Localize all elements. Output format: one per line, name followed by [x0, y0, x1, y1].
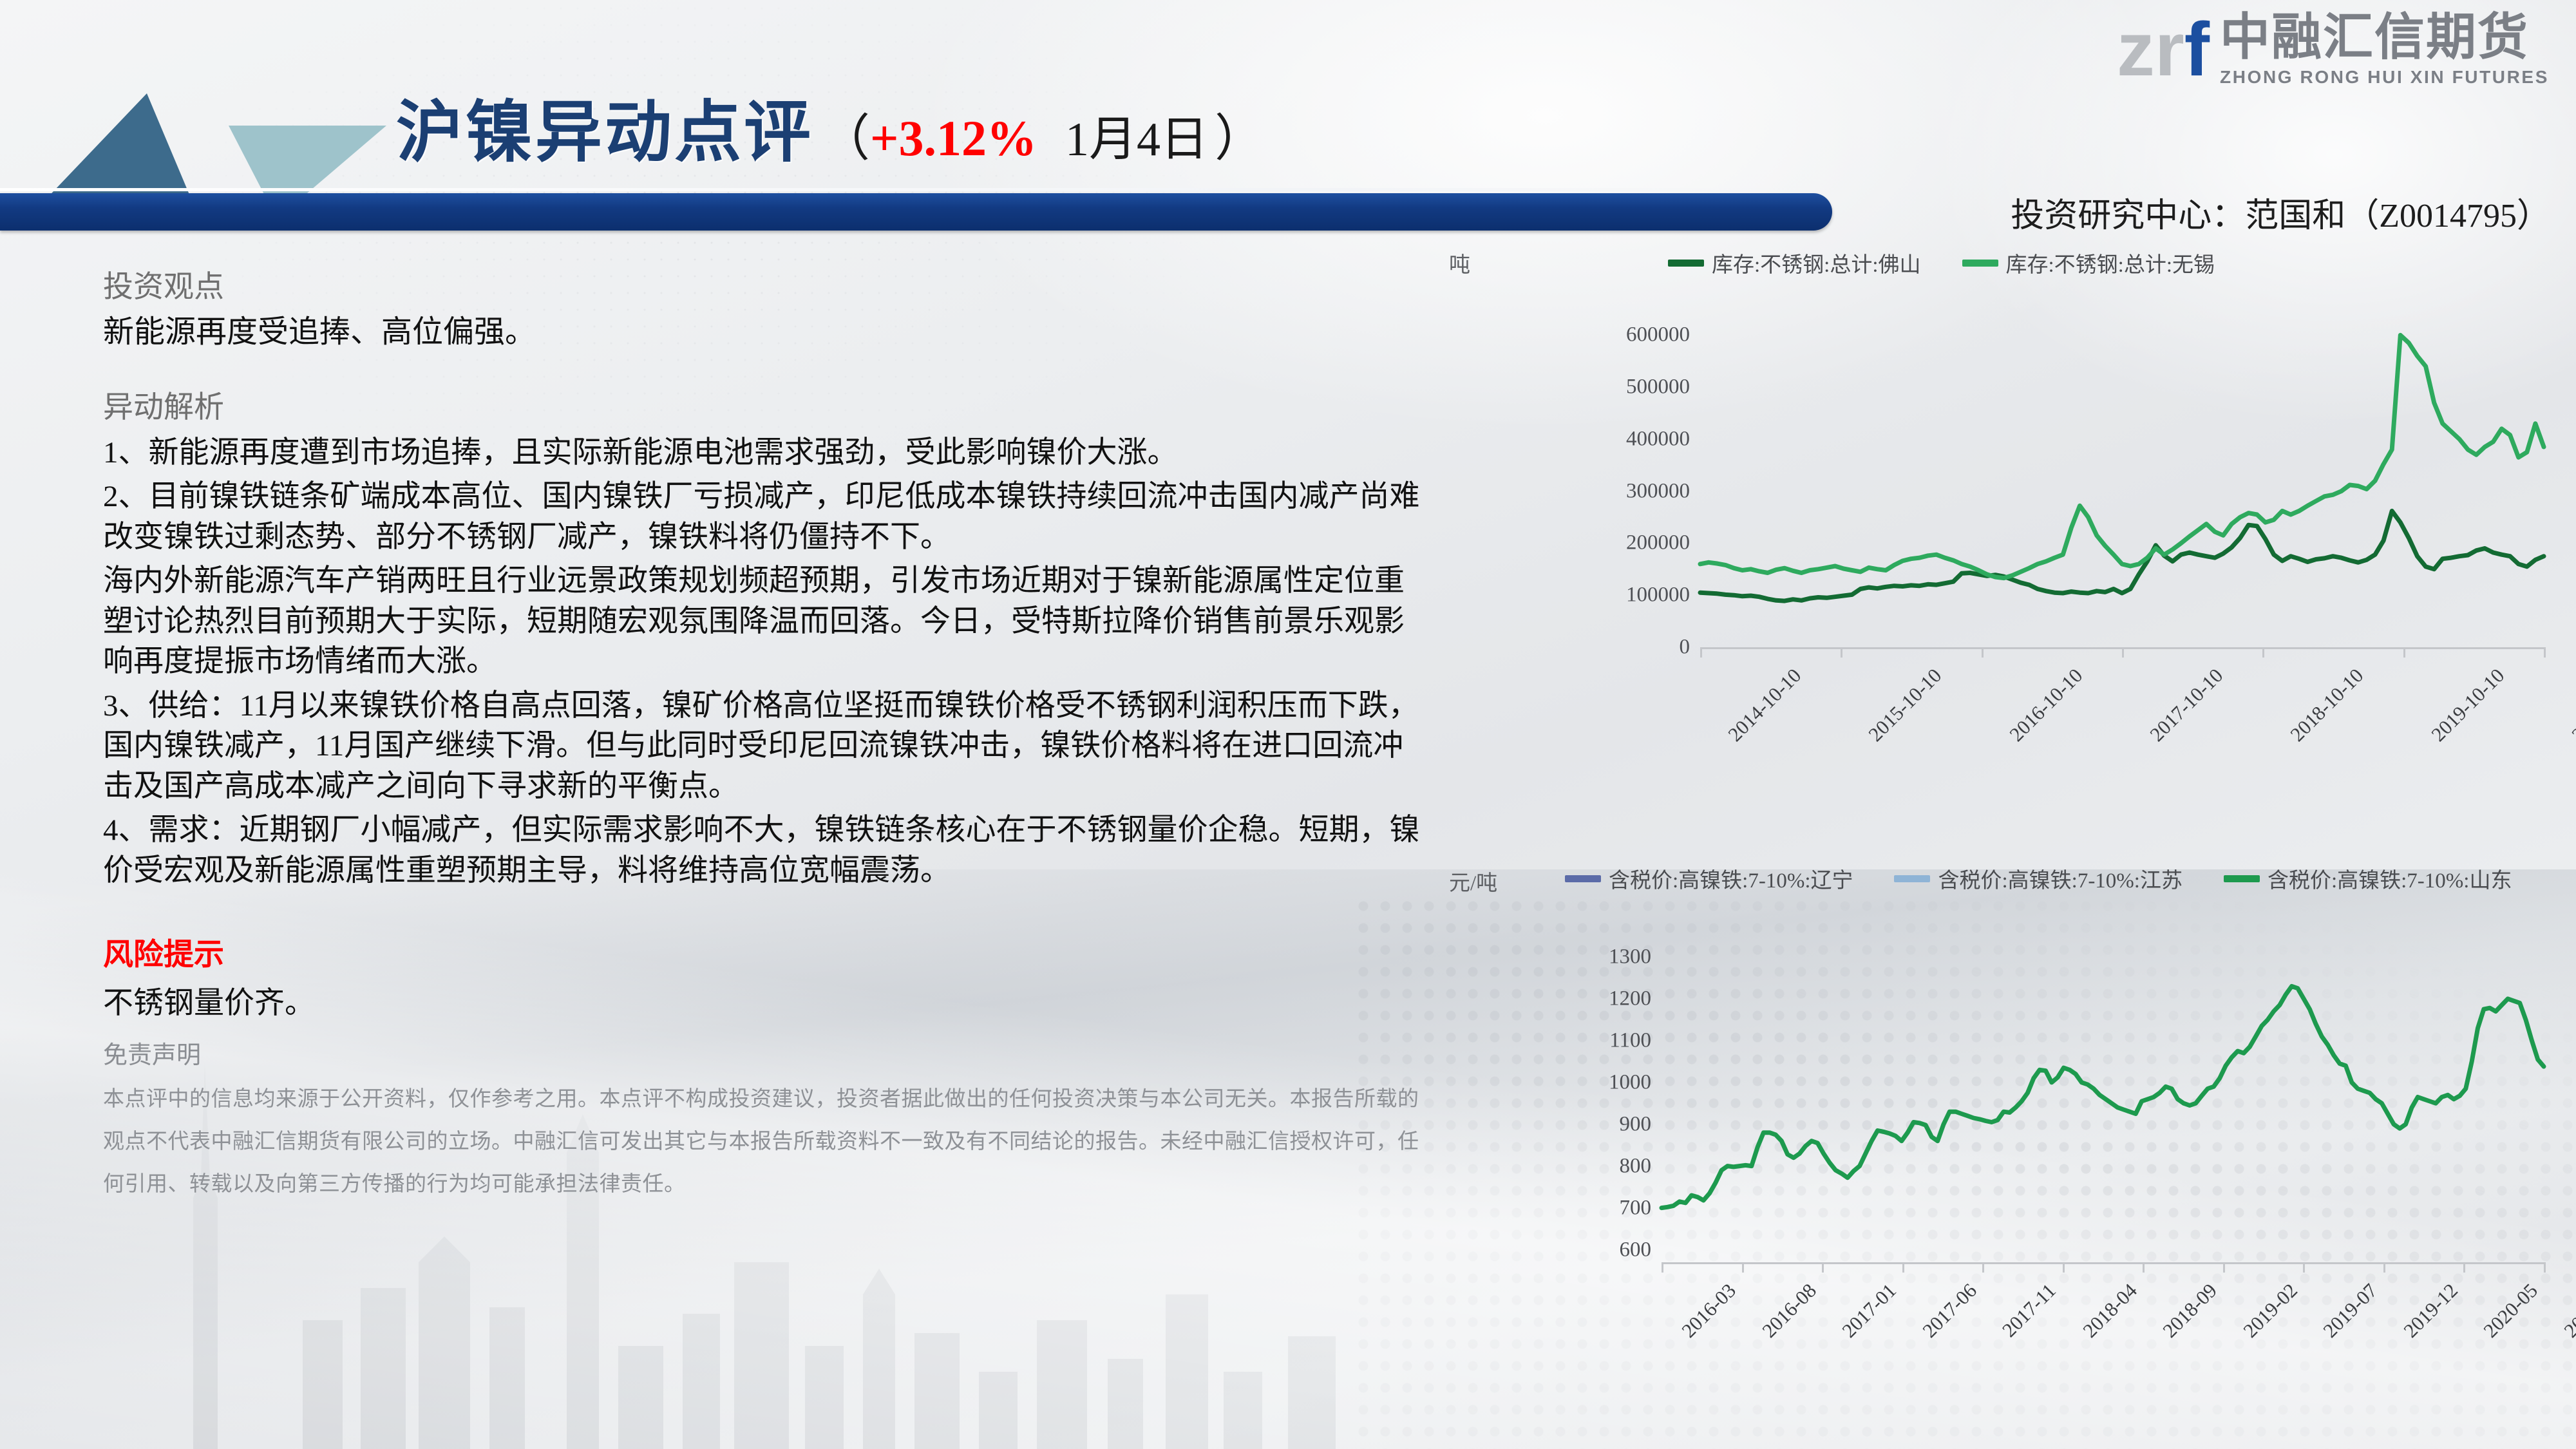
byline: 投资研究中心：范国和（Z0014795）	[2011, 188, 2550, 236]
logo-monogram: zrf	[2117, 12, 2210, 88]
company-logo: zrf 中融汇信期货 ZHONG RONG HUI XIN FUTURES	[2117, 12, 2549, 88]
spacer	[103, 353, 1430, 388]
spacer	[103, 895, 1430, 929]
page-title: 沪镍异动点评 （ +3.12% 1月4日 ）	[396, 77, 1265, 175]
chart-stainless-inventory: 吨 库存:不锈钢:总计:佛山库存:不锈钢:总计:无锡 0100000200000…	[1449, 245, 2570, 657]
analysis-paragraph: 2、目前镍铁链条矿端成本高位、国内镍铁厂亏损减产，印尼低成本镍铁持续回流冲击国内…	[103, 477, 1430, 557]
chart-series-line	[1700, 511, 2544, 601]
logo-company-name-cn: 中融汇信期货	[2220, 12, 2549, 62]
section-heading-view: 投资观点	[103, 267, 1430, 308]
chart2-plot-area	[1449, 863, 2570, 1275]
chart-series-line	[1662, 986, 2544, 1207]
title-date: 1月4日	[1065, 100, 1208, 169]
logo-company-name-en: ZHONG RONG HUI XIN FUTURES	[2220, 67, 2549, 88]
title-change-percent: +3.12%	[870, 109, 1037, 167]
logo-letter-z: z	[2117, 7, 2155, 92]
logo-letter-r: r	[2155, 7, 2184, 92]
section-text-view: 新能源再度受追捧、高位偏强。	[103, 312, 1430, 353]
chart-nickel-pig-iron-price: 元/吨 含税价:高镍铁:7-10%:辽宁含税价:高镍铁:7-10%:江苏含税价:…	[1449, 863, 2570, 1275]
analysis-paragraph: 4、需求：近期钢厂小幅减产，但实际需求影响不大，镍铁链条核心在于不锈钢量价企稳。…	[103, 810, 1430, 891]
chart-series-line	[1700, 335, 2544, 578]
banner-highlight	[0, 188, 1816, 191]
analysis-paragraph: 1、新能源再度遭到市场追捧，且实际新能源电池需求强劲，受此影响镍价大涨。	[103, 433, 1430, 473]
logo-letter-f: f	[2184, 7, 2210, 92]
title-main: 沪镍异动点评	[396, 77, 813, 175]
header-banner-bar	[0, 193, 1832, 231]
analysis-paragraph: 3、供给：11月以来镍铁价格自高点回落，镍矿价格高位坚挺而镍铁价格受不锈钢利润积…	[103, 686, 1430, 807]
analysis-paragraph: 海内外新能源汽车产销两旺且行业远景政策规划频超预期，引发市场近期对于镍新能源属性…	[103, 561, 1430, 682]
risk-text: 不锈钢量价齐。	[103, 978, 1430, 1022]
disclaimer-heading: 免责声明	[103, 1035, 1430, 1070]
logo-text-block: 中融汇信期货 ZHONG RONG HUI XIN FUTURES	[2220, 12, 2549, 88]
title-paren-open: （	[820, 98, 870, 170]
title-paren-close: ）	[1215, 98, 1265, 170]
section-heading-analysis: 异动解析	[103, 388, 1430, 428]
report-body: 投资观点 新能源再度受追捧、高位偏强。 异动解析 1、新能源再度遭到市场追捧，且…	[103, 267, 1430, 1206]
risk-heading: 风险提示	[103, 929, 1430, 974]
chart1-plot-area	[1449, 245, 2570, 657]
disclaimer-text: 本点评中的信息均来源于公开资料，仅作参考之用。本点评不构成投资建议，投资者据此做…	[103, 1078, 1430, 1206]
